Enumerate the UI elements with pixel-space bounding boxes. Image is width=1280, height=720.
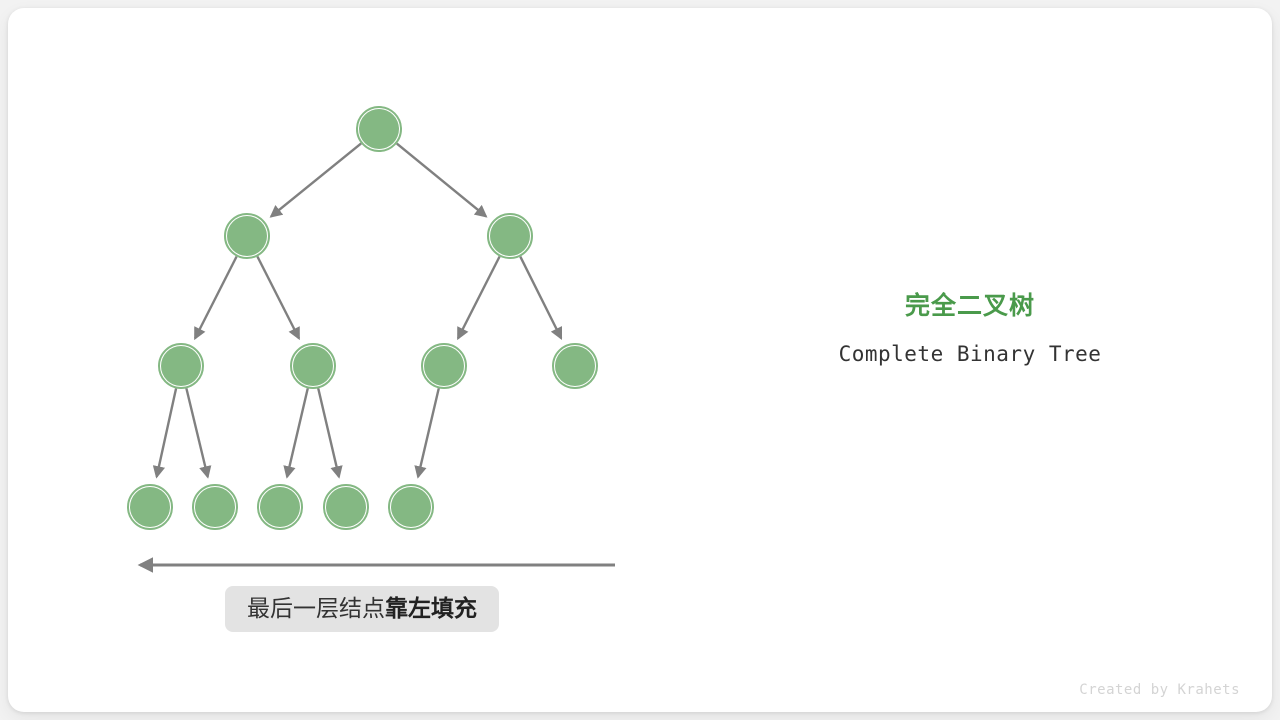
legend-title: 完全二叉树 [700,290,1240,322]
tree-node [324,485,368,529]
tree-edge [157,388,176,476]
footer-credit: Created by Krahets [1079,682,1240,698]
tree-node-disc [227,216,267,256]
tree-node [291,344,335,388]
tree-node-disc [161,346,201,386]
legend-subtitle: Complete Binary Tree [700,340,1240,368]
tree-node-disc [326,487,366,527]
tree-node [553,344,597,388]
caption-badge: 最后一层结点靠左填充 [225,586,499,632]
tree-edge [418,388,439,476]
tree-node-disc [424,346,464,386]
tree-node-disc [391,487,431,527]
tree-edge [458,257,500,339]
tree-node-disc [359,109,399,149]
tree-node-disc [130,487,170,527]
tree-node [193,485,237,529]
tree-node [225,214,269,258]
tree-nodes [128,107,597,529]
tree-node [159,344,203,388]
tree-node-disc [260,487,300,527]
legend-block: 完全二叉树 Complete Binary Tree [700,290,1240,368]
tree-edge [318,388,339,476]
tree-node-disc [195,487,235,527]
tree-node [488,214,532,258]
tree-edges [157,143,561,476]
tree-edge [186,388,207,477]
tree-edge [520,257,561,339]
tree-node-disc [490,216,530,256]
tree-node [422,344,466,388]
tree-edge [397,144,486,217]
caption-text-normal: 最后一层结点 [247,595,385,621]
tree-node-disc [555,346,595,386]
tree-edge [287,388,308,476]
tree-node [357,107,401,151]
diagram-canvas: 完全二叉树 Complete Binary Tree 最后一层结点靠左填充 Cr… [0,0,1280,720]
tree-edge [257,257,299,339]
tree-node [389,485,433,529]
tree-edge [195,257,237,339]
tree-node [258,485,302,529]
tree-node [128,485,172,529]
tree-edge [271,143,361,216]
caption-text-bold: 靠左填充 [385,595,477,621]
tree-node-disc [293,346,333,386]
